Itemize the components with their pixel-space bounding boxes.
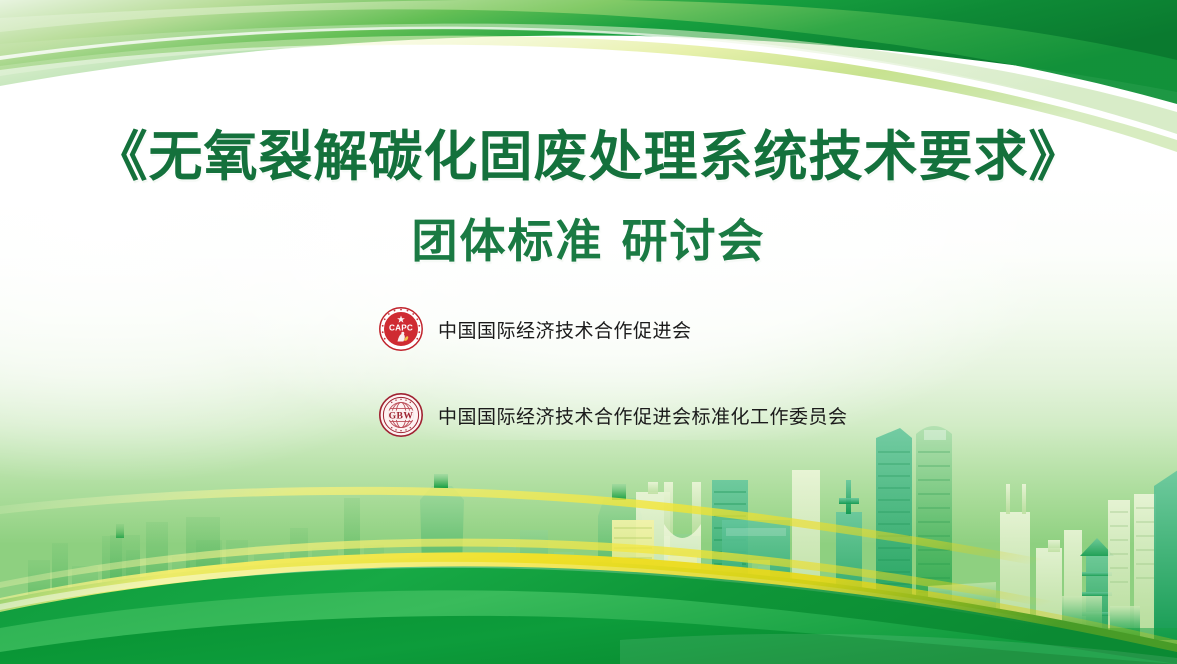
page-title: 《无氧裂解碳化固废处理系统技术要求》 xyxy=(0,112,1177,191)
gbw-seal-icon: GBW xyxy=(378,392,424,438)
organization-row: GBW 中国国际经济技术合作促进会标准化工作委员会 xyxy=(378,392,848,438)
organization-list: CAPC 中国国际经济技术合作促进会 xyxy=(378,306,848,478)
svg-text:GBW: GBW xyxy=(389,410,414,421)
page-subtitle: 团体标准 研讨会 xyxy=(0,205,1177,271)
organization-name: 中国国际经济技术合作促进会 xyxy=(438,316,692,343)
organization-row: CAPC 中国国际经济技术合作促进会 xyxy=(378,306,848,352)
svg-text:CAPC: CAPC xyxy=(389,324,413,333)
slide-content: 《无氧裂解碳化固废处理系统技术要求》 团体标准 研讨会 xyxy=(0,0,1177,664)
organization-name: 中国国际经济技术合作促进会标准化工作委员会 xyxy=(438,402,848,429)
capc-seal-icon: CAPC xyxy=(378,306,424,352)
conference-title-slide: 《无氧裂解碳化固废处理系统技术要求》 团体标准 研讨会 xyxy=(0,0,1177,664)
